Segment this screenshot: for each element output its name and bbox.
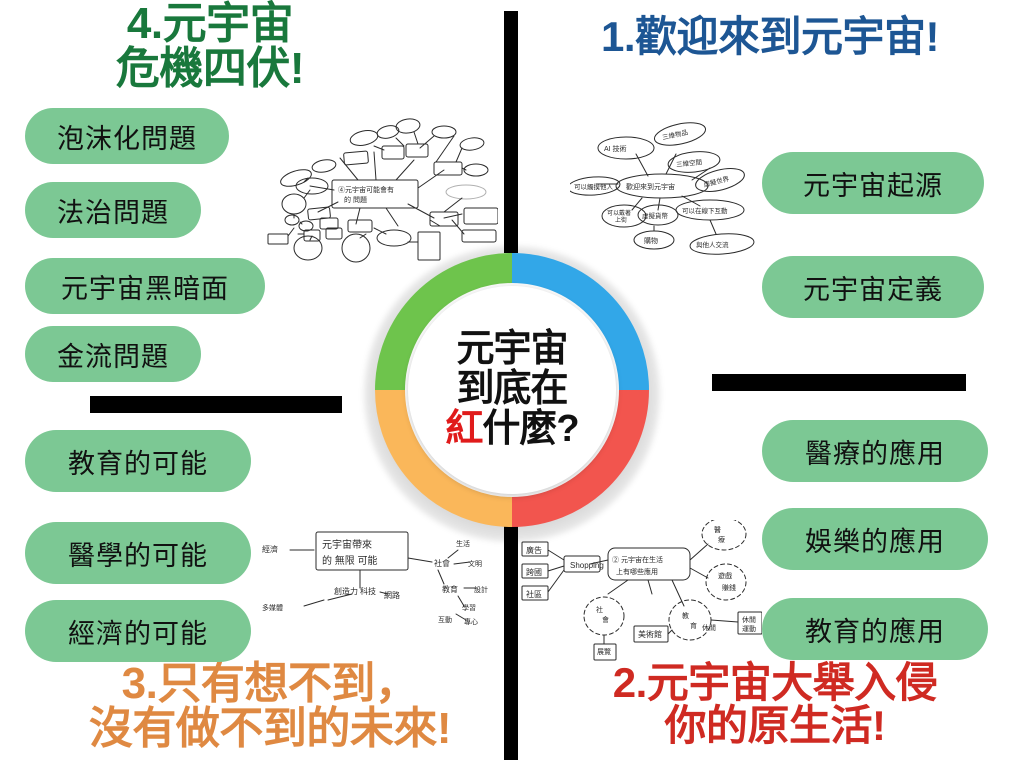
svg-text:廣告: 廣告 [526,545,542,555]
center-line-3: 紅什麼? [445,410,578,450]
svg-text:Shopping: Shopping [570,561,604,570]
right-horizontal-divider [712,374,966,391]
svg-text:創造力: 創造力 [334,586,358,596]
pill-label: 元宇宙定義 [803,268,943,307]
svg-text:上有哪些應用: 上有哪些應用 [616,567,658,576]
center-ring: 元宇宙 到底在 紅什麼? [372,250,652,530]
svg-text:多媒體: 多媒體 [262,603,283,612]
pill-label: 教育的可能 [68,442,208,481]
svg-text:④元宇宙可能會有: ④元宇宙可能會有 [338,185,394,194]
svg-text:教: 教 [682,611,689,620]
pill-label: 醫療的應用 [805,432,945,471]
svg-text:可以在線下互動: 可以在線下互動 [682,206,728,215]
svg-text:遊戲: 遊戲 [718,571,732,580]
pill-s4-item-1[interactable]: 法治問題 [25,182,201,238]
pill-label: 教育的應用 [805,610,945,649]
center-headline: 元宇宙 到底在 紅什麼? [372,250,652,530]
svg-text:賺錢: 賺錢 [722,583,736,592]
top-vertical-divider [504,11,518,253]
pill-s1-item-0[interactable]: 元宇宙起源 [762,152,984,214]
pill-s2-item-2[interactable]: 教育的應用 [762,598,988,660]
pill-label: 醫學的可能 [68,534,208,573]
svg-text:的 問題: 的 問題 [344,195,367,204]
svg-text:設計: 設計 [474,585,488,594]
svg-text:會: 會 [602,615,609,624]
svg-text:專心: 專心 [464,617,478,626]
svg-text:療: 療 [718,535,725,544]
svg-text:與他人交流: 與他人交流 [696,240,729,249]
svg-text:② 元宇宙在生活: ② 元宇宙在生活 [612,555,663,564]
pill-label: 娛樂的應用 [805,520,945,559]
center-line-2: 到底在 [456,370,567,410]
section-4-title: 4.元宇宙 危機四伏! [10,2,410,92]
center-line-3-rest: 什麼? [482,408,578,450]
svg-text:社會: 社會 [434,558,450,568]
infographic-slide: 4.元宇宙 危機四伏! 1.歡迎來到元宇宙! 3.只有想不到， 沒有做不到的未來… [0,0,1024,768]
svg-text:上街: 上街 [615,216,627,224]
pill-s2-item-0[interactable]: 醫療的應用 [762,420,988,482]
pill-s3-item-2[interactable]: 經濟的可能 [25,600,251,662]
center-line-3-highlight: 紅 [445,408,482,450]
pill-label: 經濟的可能 [68,612,208,651]
svg-text:休閒: 休閒 [742,615,756,624]
pill-label: 泡沫化問題 [57,117,197,156]
svg-text:跨國: 跨國 [526,568,542,577]
pill-s2-item-1[interactable]: 娛樂的應用 [762,508,988,570]
svg-text:歡迎來到元宇宙: 歡迎來到元宇宙 [626,182,675,191]
svg-text:經濟: 經濟 [262,544,278,554]
svg-text:教育: 教育 [442,584,458,594]
svg-text:可以戴著: 可以戴著 [607,209,631,217]
pill-s3-item-1[interactable]: 醫學的可能 [25,522,251,584]
pill-s4-item-0[interactable]: 泡沫化問題 [25,108,229,164]
svg-text:社區: 社區 [526,589,542,599]
svg-text:生活: 生活 [456,539,470,548]
sketch-s2-mindmap: ② 元宇宙在生活 上有哪些應用 Shopping 廣告 跨國 社區 [512,520,762,670]
section-2-title: 2.元宇宙大舉入侵 你的原生活! [540,662,1010,748]
pill-label: 元宇宙起源 [803,164,943,203]
svg-text:可以觸摸他人: 可以觸摸他人 [574,182,614,191]
sketch-s1-mindmap: 歡迎來到元宇宙 AI 技術 三維物品 三維空間 虛擬世界 可以觸摸他 [570,110,760,260]
pill-s4-item-3[interactable]: 金流問題 [25,326,201,382]
svg-text:社: 社 [596,605,603,614]
pill-s4-item-2[interactable]: 元宇宙黑暗面 [25,258,265,314]
center-line-1: 元宇宙 [456,330,567,370]
svg-text:學習: 學習 [462,603,476,612]
svg-text:文明: 文明 [468,559,482,568]
svg-text:虛擬世界: 虛擬世界 [703,174,731,189]
svg-text:元宇宙帶來: 元宇宙帶來 [322,538,372,551]
svg-text:網路: 網路 [384,590,400,600]
svg-text:三維物品: 三維物品 [661,127,688,141]
svg-text:虛擬貨幣: 虛擬貨幣 [642,211,669,220]
left-horizontal-divider [90,396,342,413]
svg-text:美術館: 美術館 [638,629,662,639]
pill-label: 金流問題 [57,335,169,374]
section-1-title: 1.歡迎來到元宇宙! [530,16,1010,59]
svg-text:互動: 互動 [438,615,452,624]
pill-label: 法治問題 [57,191,169,230]
svg-text:休閒: 休閒 [702,623,716,632]
svg-text:三維空間: 三維空間 [676,157,703,169]
pill-s3-item-0[interactable]: 教育的可能 [25,430,251,492]
svg-text:育: 育 [690,621,697,630]
sketch-s3-mindmap: 元宇宙帶來 的 無限 可能 經濟 社會 生活 文明 教育 設計 學習 專心 互動 [256,522,496,642]
pill-s1-item-1[interactable]: 元宇宙定義 [762,256,984,318]
svg-text:運動: 運動 [742,624,756,633]
pill-label: 元宇宙黑暗面 [61,267,229,306]
svg-text:AI 技術: AI 技術 [604,144,627,153]
svg-text:的 無限 可能: 的 無限 可能 [322,554,378,567]
section-3-title: 3.只有想不到， 沒有做不到的未來! [40,662,500,752]
svg-text:展覽: 展覽 [597,647,611,656]
svg-text:購物: 購物 [644,236,658,245]
svg-text:科技: 科技 [360,586,376,596]
bottom-vertical-divider [504,518,518,760]
svg-text:醫: 醫 [714,526,721,534]
